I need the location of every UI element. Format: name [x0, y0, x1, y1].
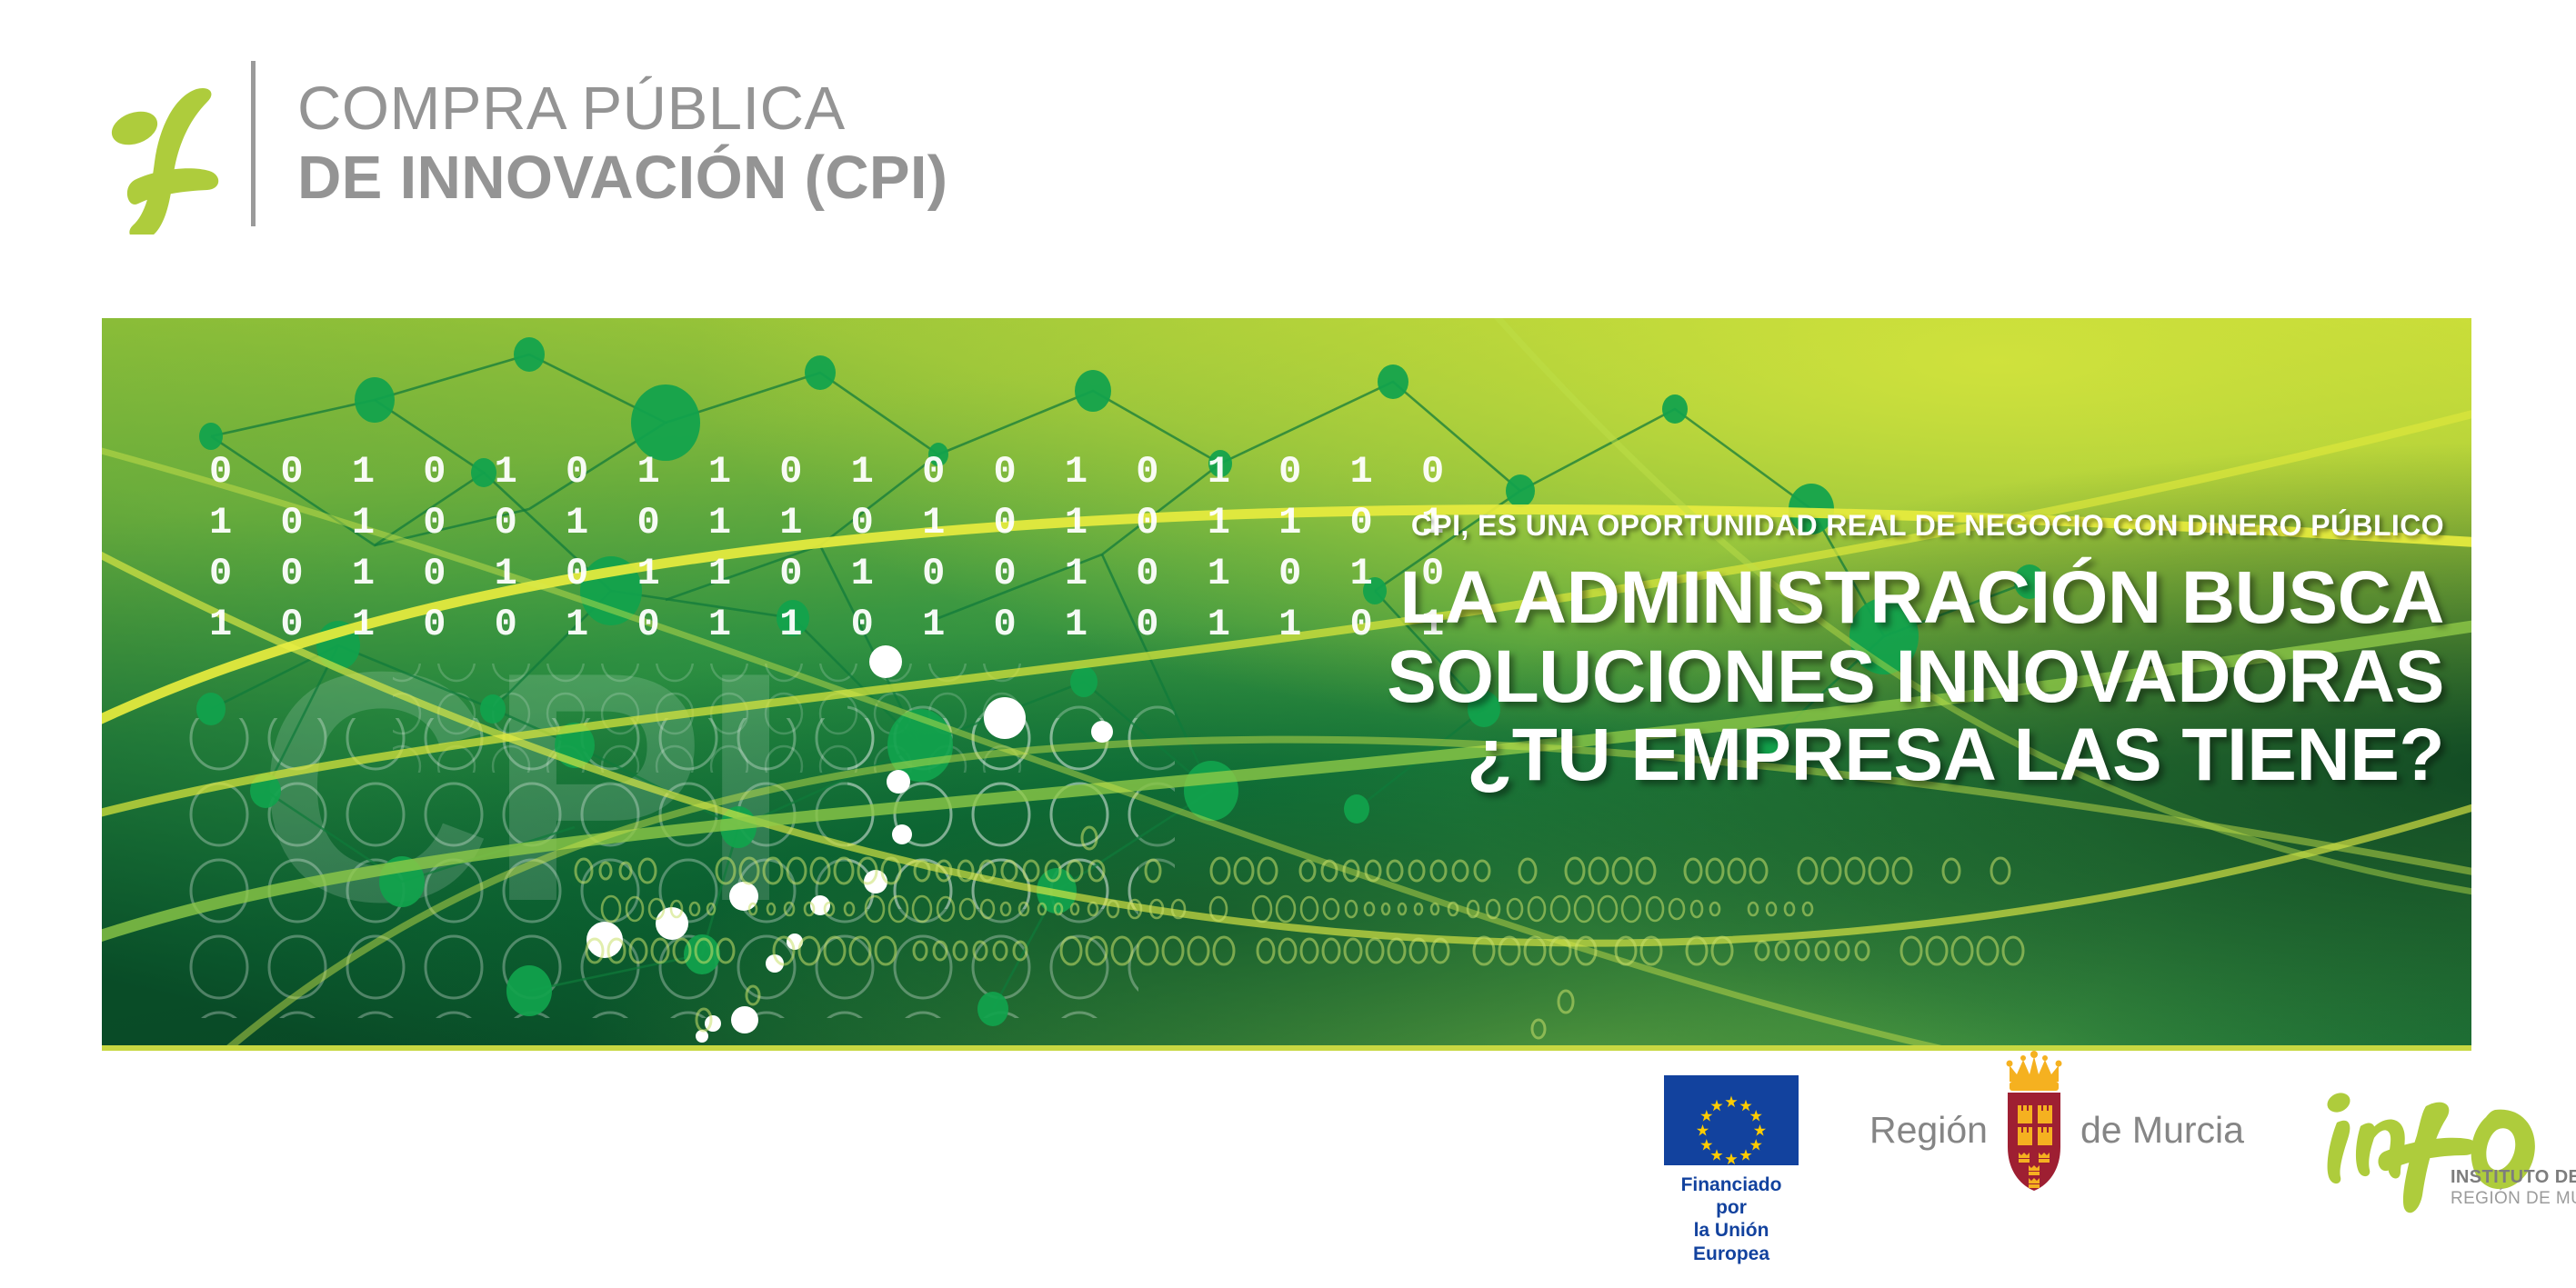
info-caption-line-2: REGIÓN DE MURCIA: [2451, 1189, 2576, 1209]
brand-title-line-1: COMPRA PÚBLICA: [297, 78, 947, 140]
brand-text: COMPRA PÚBLICA DE INNOVACIÓN (CPI): [297, 78, 947, 210]
footer-logos: Financiado por la Unión Europea Región: [1664, 1075, 2510, 1257]
eu-flag-icon: [1664, 1075, 1799, 1165]
eu-funding-logo: Financiado por la Unión Europea: [1664, 1075, 1799, 1265]
promo-banner: CPI: [102, 318, 2471, 1051]
brand-divider: [251, 61, 256, 226]
banner-copy: CPI, ES UNA OPORTUNIDAD REAL DE NEGOCIO …: [1153, 509, 2444, 795]
brand-title-line-2: DE INNOVACIÓN (CPI): [297, 147, 947, 209]
banner-eyebrow: CPI, ES UNA OPORTUNIDAD REAL DE NEGOCIO …: [1153, 509, 2444, 543]
banner-headline-line-2: SOLUCIONES INNOVADORAS: [1153, 638, 2444, 717]
info-caption-line-1: INSTITUTO DE FOMENTO: [2451, 1167, 2576, 1189]
region-de-murcia-logo: Región: [1869, 1075, 2244, 1184]
info-caption: INSTITUTO DE FOMENTO REGIÓN DE MURCIA: [2451, 1167, 2576, 1209]
eu-caption-line-2: la Unión Europea: [1664, 1219, 1799, 1264]
banner-headline-line-1: LA ADMINISTRACIÓN BUSCA: [1153, 559, 2444, 638]
eu-caption: Financiado por la Unión Europea: [1664, 1173, 1799, 1265]
murcia-word-right: de Murcia: [2080, 1109, 2244, 1152]
murcia-shield-icon: [1999, 1051, 2070, 1196]
eu-caption-line-1: Financiado por: [1664, 1173, 1799, 1219]
brand-header: COMPRA PÚBLICA DE INNOVACIÓN (CPI): [102, 44, 1193, 244]
if-mark-icon: [102, 53, 238, 235]
murcia-word-left: Región: [1869, 1109, 1988, 1152]
svg-text:0 0 1 0 1 0 1 1 0 1 0 0 1 0 1: 0 0 1 0 1 0 1 1 0 1 0 0 1 0 1 0 1 0: [209, 450, 1457, 494]
banner-headline-line-3: ¿TU EMPRESA LAS TIENE?: [1153, 716, 2444, 795]
info-logo: INSTITUTO DE FOMENTO REGIÓN DE MURCIA: [2317, 1075, 2576, 1221]
